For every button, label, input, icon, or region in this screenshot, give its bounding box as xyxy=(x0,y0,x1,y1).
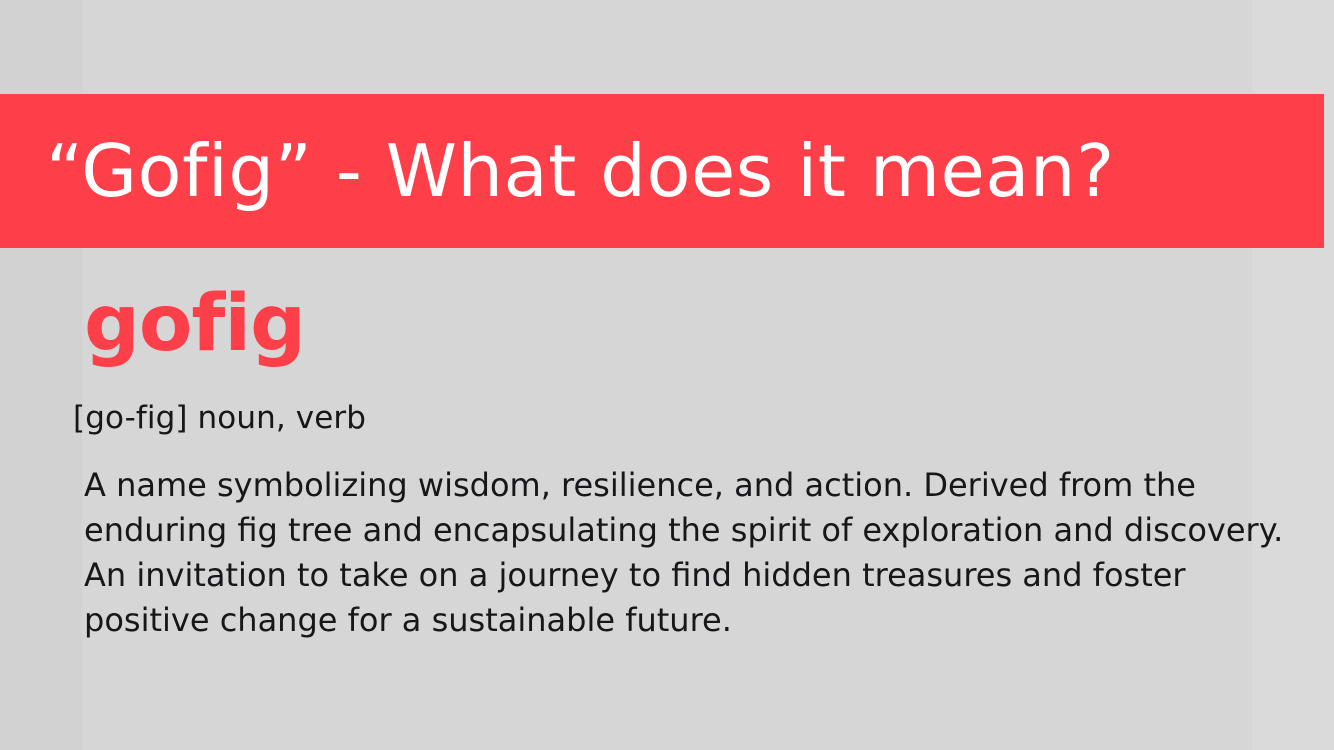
headword: gofig xyxy=(84,285,305,363)
presentation-slide: “Gofig” - What does it mean? gofig [go-f… xyxy=(0,0,1334,750)
pronunciation-and-part-of-speech: [go-fig] noun, verb xyxy=(73,400,366,437)
definition-paragraph-2: An invitation to take on a journey to fi… xyxy=(84,553,1284,643)
title-banner: “Gofig” - What does it mean? xyxy=(0,94,1324,248)
slide-title: “Gofig” - What does it mean? xyxy=(46,135,1115,207)
definition-block: A name symbolizing wisdom, resilience, a… xyxy=(84,463,1284,643)
definition-paragraph-1: A name symbolizing wisdom, resilience, a… xyxy=(84,463,1284,553)
